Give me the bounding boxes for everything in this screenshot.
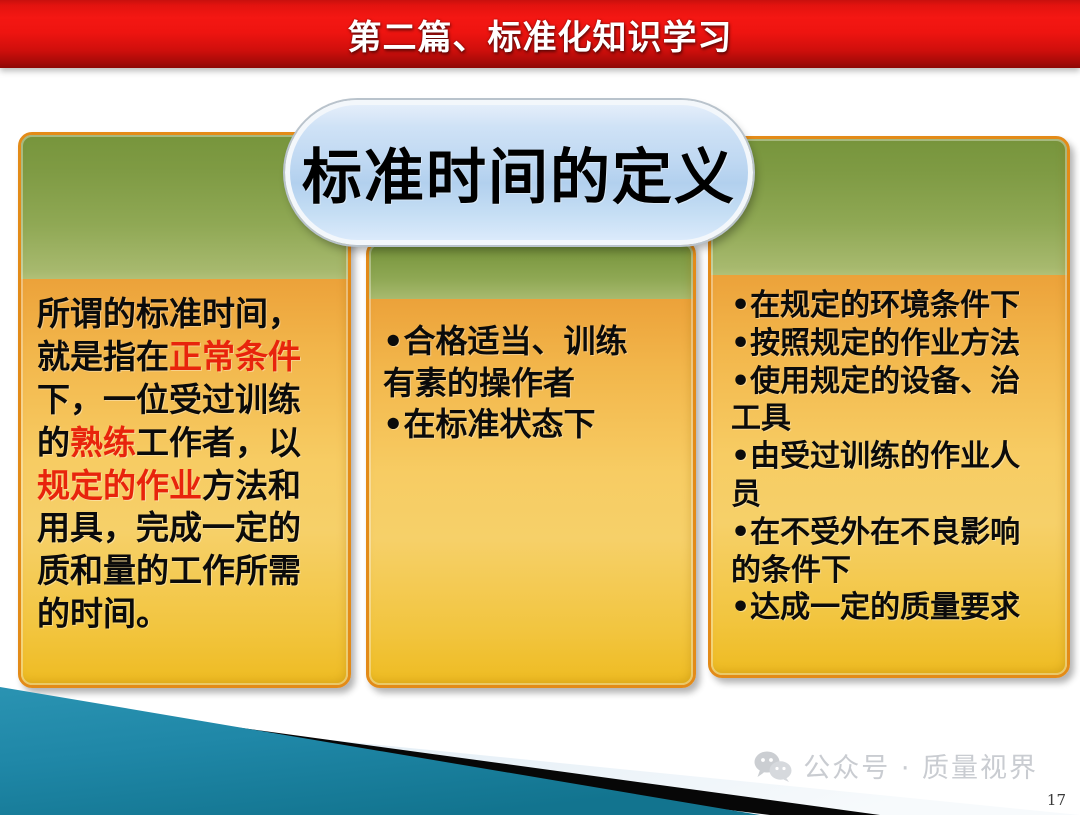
operator-condition-line: 有素的操作者 (383, 363, 683, 405)
standard-condition-line: •由受过训练的作业人 (731, 438, 1059, 476)
definition-text: 所谓的标准时间，就是指在正常条件下，一位受过训练的熟练工作者，以规定的作业方法和… (37, 293, 336, 636)
definition-line: 的时间。 (37, 593, 336, 636)
standard-condition-line: •使用规定的设备、治 (731, 363, 1059, 401)
page-number: 17 (1047, 791, 1066, 809)
definition-plain: 的时间。 (37, 594, 169, 633)
definition-line: 质和量的工作所需 (37, 550, 336, 593)
decoration-black-stripe (0, 695, 880, 815)
decoration-teal-wedge (0, 687, 760, 815)
definition-highlight: 正常条件 (169, 337, 301, 376)
standard-condition-line: •在不受外在不良影响 (731, 514, 1059, 552)
watermark-text: 公众号 · 质量视界 (803, 746, 1038, 785)
standard-condition-line: 工具 (731, 400, 1059, 438)
slide-title-text: 标准时间的定义 (302, 129, 736, 216)
watermark: 公众号 · 质量视界 (753, 746, 1038, 785)
definition-line: 所谓的标准时间， (37, 293, 336, 336)
header-title: 第二篇、标准化知识学习 (0, 0, 1080, 68)
operator-conditions-list: •合格适当、训练有素的操作者•在标准状态下 (383, 321, 683, 446)
definition-line: 规定的作业方法和 (37, 465, 336, 508)
definition-line: 就是指在正常条件 (37, 336, 336, 379)
definition-highlight: 规定的作业 (37, 466, 202, 505)
definition-plain: 用具，完成一定的 (37, 508, 301, 547)
standard-condition-line: 的条件下 (731, 552, 1059, 590)
standard-condition-line: •达成一定的质量要求 (731, 589, 1059, 627)
slide-canvas: 第二篇、标准化知识学习 所谓的标准时间，就是指在正常条件下，一位受过训练的熟练工… (0, 0, 1080, 815)
definition-plain: 质和量的工作所需 (37, 551, 301, 590)
standard-condition-line: 员 (731, 476, 1059, 514)
slide-title-bubble: 标准时间的定义 (285, 100, 753, 245)
definition-plain: 工作者，以 (136, 423, 301, 462)
standard-condition-line: •按照规定的作业方法 (731, 325, 1059, 363)
definition-plain: 所谓的标准时间， (37, 294, 301, 333)
definition-line: 的熟练工作者，以 (37, 422, 336, 465)
panel-top-band (369, 243, 693, 303)
wechat-icon (753, 750, 793, 782)
definition-line: 下，一位受过训练 (37, 379, 336, 422)
panel-operator-conditions: •合格适当、训练有素的操作者•在标准状态下 (366, 240, 696, 688)
operator-condition-line: •合格适当、训练 (383, 321, 683, 363)
definition-plain: 下，一位受过训练 (37, 380, 301, 419)
panel-standard-conditions: •在规定的环境条件下•按照规定的作业方法•使用规定的设备、治工具•由受过训练的作… (708, 136, 1070, 678)
operator-condition-line: •在标准状态下 (383, 404, 683, 446)
definition-plain: 方法和 (202, 466, 301, 505)
panel-top-band (711, 139, 1067, 279)
standard-condition-line: •在规定的环境条件下 (731, 287, 1059, 325)
definition-plain: 的 (37, 423, 70, 462)
definition-line: 用具，完成一定的 (37, 507, 336, 550)
standard-conditions-list: •在规定的环境条件下•按照规定的作业方法•使用规定的设备、治工具•由受过训练的作… (731, 287, 1059, 627)
definition-highlight: 熟练 (70, 423, 136, 462)
definition-plain: 就是指在 (37, 337, 169, 376)
